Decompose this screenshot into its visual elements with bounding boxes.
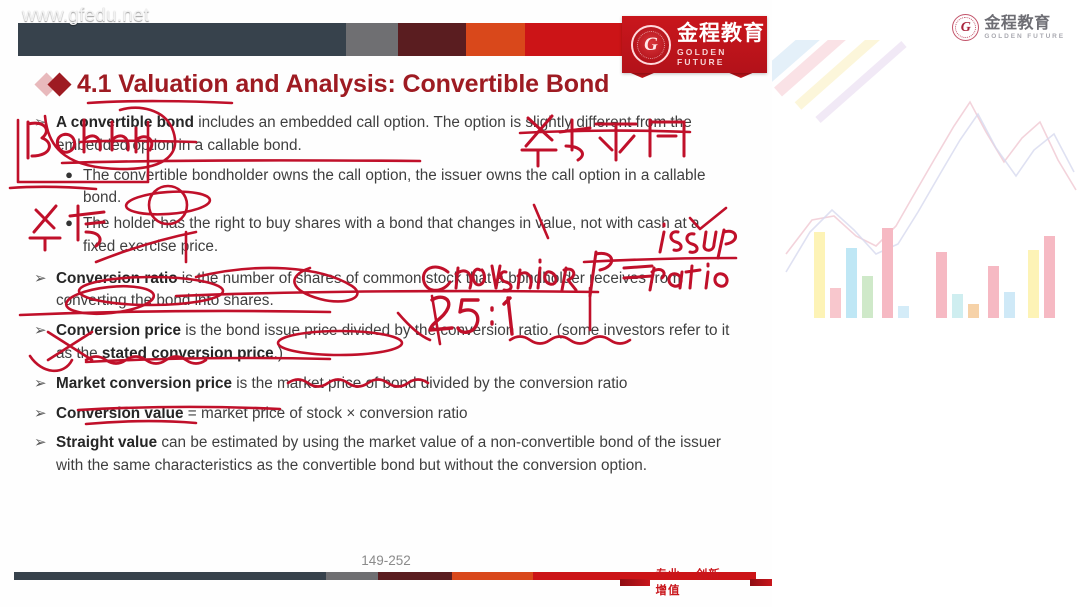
bullet-bold-lead: Straight value <box>56 434 157 451</box>
slide-area: www.gfedu.net G 金程教育 GOLDEN FUTURE 4.1 V… <box>0 0 772 607</box>
site-url-label: www.gfedu.net <box>22 5 149 27</box>
bullet-bold-lead: A convertible bond <box>56 114 194 131</box>
arrow-bullet-icon: ➢ <box>34 112 48 158</box>
dot-bullet-icon: ● <box>62 165 76 211</box>
subbullet-text: The holder has the right to buy shares w… <box>83 213 734 259</box>
slide-body: ➢ A convertible bond includes an embedde… <box>34 112 734 482</box>
subbullet-holder-right: ● The holder has the right to buy shares… <box>62 213 734 259</box>
subbullet-bondholder-owns: ● The convertible bondholder owns the ca… <box>62 165 734 211</box>
logo-chinese-name: 金程教育 <box>677 22 767 44</box>
bullet-bold-lead: Conversion ratio <box>56 270 178 287</box>
bullet-rest: = market price of stock × conversion rat… <box>184 405 468 422</box>
slide-title-row: 4.1 Valuation and Analysis: Convertible … <box>38 70 609 99</box>
background-bars <box>814 228 1055 318</box>
bullet-text: Conversion price is the bond issue price… <box>56 320 734 366</box>
arrow-bullet-icon: ➢ <box>34 373 48 396</box>
subbullet-text: The convertible bondholder owns the call… <box>83 165 734 211</box>
bullet-conversion-ratio: ➢ Conversion ratio is the number of shar… <box>34 268 734 314</box>
bullet-bold-lead: Conversion price <box>56 322 181 339</box>
bullet-conversion-price: ➢ Conversion price is the bond issue pri… <box>34 320 734 366</box>
bullet-bold-lead: Market conversion price <box>56 375 232 392</box>
banner-segment-4 <box>466 23 526 56</box>
banner-segment-1 <box>18 23 346 56</box>
bottombar-segment-3 <box>378 572 452 580</box>
slogan-text: 专业 · 创新 · 增值 <box>655 566 745 598</box>
logo-english-name: GOLDEN FUTURE <box>677 47 767 67</box>
arrow-bullet-icon: ➢ <box>34 320 48 366</box>
background-chart-artwork <box>772 40 1079 360</box>
bullet-rest: is the market price of bond divided by t… <box>232 375 627 392</box>
gfedu-logo-plate: G 金程教育 GOLDEN FUTURE <box>622 16 767 73</box>
dot-bullet-icon: ● <box>62 213 76 259</box>
slogan-bar-right-icon <box>750 579 772 586</box>
bullet-text: Conversion value = market price of stock… <box>56 403 467 426</box>
bullet-market-conversion-price: ➢ Market conversion price is the market … <box>34 373 734 396</box>
bullet-rest-tail: .) <box>274 345 283 362</box>
bullet-text: Straight value can be estimated by using… <box>56 432 734 478</box>
bottombar-segment-2 <box>326 572 378 580</box>
bottombar-segment-4 <box>452 572 534 580</box>
gfedu-seal-icon: G <box>631 25 671 65</box>
arrow-bullet-icon: ➢ <box>34 403 48 426</box>
bullet-straight-value: ➢ Straight value can be estimated by usi… <box>34 432 734 478</box>
arrow-bullet-icon: ➢ <box>34 432 48 478</box>
bullet-conversion-value: ➢ Conversion value = market price of sto… <box>34 403 734 426</box>
banner-segment-3 <box>398 23 465 56</box>
bullet-text: A convertible bond includes an embedded … <box>56 112 734 158</box>
gfedu-logo-right: G 金程教育 GOLDEN FUTURE <box>952 14 1065 41</box>
logo-english-name: GOLDEN FUTURE <box>984 33 1065 40</box>
slide-slogan-row: 专业 · 创新 · 增值 <box>620 566 772 598</box>
bottombar-segment-1 <box>14 572 326 580</box>
bullet-text: Conversion ratio is the number of shares… <box>56 268 734 314</box>
slogan-bar-left-icon <box>620 579 650 586</box>
bullet-convertible-bond: ➢ A convertible bond includes an embedde… <box>34 112 734 158</box>
page-title: 4.1 Valuation and Analysis: Convertible … <box>77 70 609 99</box>
app-root: www.gfedu.net G 金程教育 GOLDEN FUTURE 4.1 V… <box>0 0 1079 607</box>
banner-segment-2 <box>346 23 398 56</box>
arrow-bullet-icon: ➢ <box>34 268 48 314</box>
bullet-bold-tail: stated conversion price <box>102 345 274 362</box>
right-panel: G 金程教育 GOLDEN FUTURE <box>772 0 1079 607</box>
bullet-bold-lead: Conversion value <box>56 405 184 422</box>
gfedu-seal-icon: G <box>952 14 979 41</box>
logo-chinese-name: 金程教育 <box>984 15 1065 31</box>
bullet-text: Market conversion price is the market pr… <box>56 373 627 396</box>
